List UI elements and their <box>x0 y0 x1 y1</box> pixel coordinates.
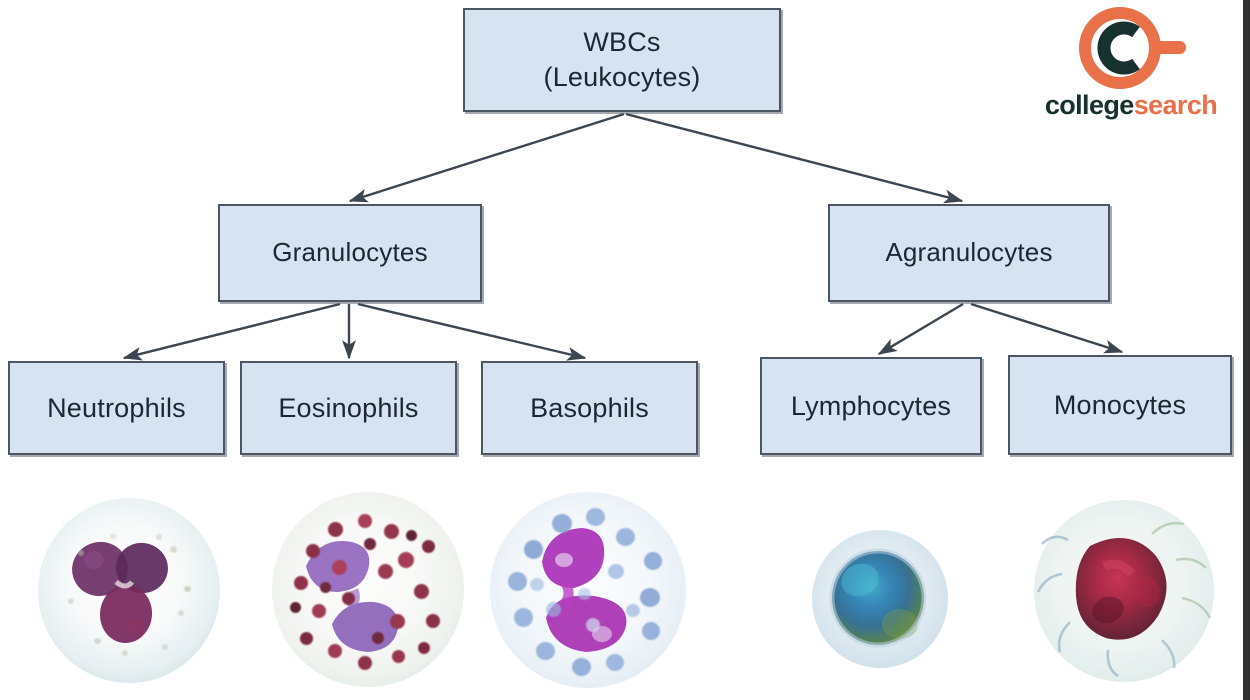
logo-word-college: college <box>1045 90 1134 120</box>
node-monocytes-label: Monocytes <box>1054 388 1186 423</box>
node-eosinophils[interactable]: Eosinophils <box>240 361 457 455</box>
node-wbcs[interactable]: WBCs (Leukocytes) <box>463 8 781 112</box>
eosinophil-micrograph <box>272 492 464 687</box>
lymphocyte-nucleus <box>812 530 948 668</box>
node-basophils[interactable]: Basophils <box>481 361 698 455</box>
lymphocyte-micrograph <box>812 530 948 668</box>
node-agranulocytes[interactable]: Agranulocytes <box>828 204 1110 302</box>
basophil-micrograph <box>490 492 686 688</box>
node-lymphocytes-label: Lymphocytes <box>791 389 951 424</box>
node-wbcs-label: WBCs (Leukocytes) <box>544 25 701 94</box>
edge-agranulocytes-lymphocytes <box>879 304 963 354</box>
node-neutrophils-label: Neutrophils <box>47 391 186 426</box>
logo-wordmark: collegesearch <box>1020 90 1242 121</box>
node-lymphocytes[interactable]: Lymphocytes <box>760 357 982 455</box>
diagram-canvas: WBCs (Leukocytes) Granulocytes Agranuloc… <box>0 0 1250 700</box>
canvas-right-edge <box>1243 0 1250 700</box>
neutrophil-nucleus <box>38 498 220 683</box>
edge-wbcs-agranulocytes <box>626 114 962 201</box>
node-monocytes[interactable]: Monocytes <box>1008 355 1232 455</box>
monocyte-micrograph <box>1034 500 1214 682</box>
edge-granulocytes-basophils <box>358 304 585 358</box>
edge-granulocytes-neutrophils <box>124 304 340 358</box>
neutrophil-micrograph <box>38 498 220 683</box>
node-neutrophils[interactable]: Neutrophils <box>8 361 225 455</box>
edge-wbcs-granulocytes <box>350 114 624 201</box>
node-agranulocytes-label: Agranulocytes <box>885 236 1052 269</box>
node-granulocytes-label: Granulocytes <box>272 236 428 269</box>
node-basophils-label: Basophils <box>530 391 649 426</box>
monocyte-cytoplasm-fringe <box>1034 500 1214 682</box>
magnifier-c-icon <box>1066 2 1192 94</box>
node-eosinophils-label: Eosinophils <box>278 391 418 426</box>
logo-word-search: search <box>1134 90 1217 120</box>
node-granulocytes[interactable]: Granulocytes <box>218 204 482 302</box>
collegesearch-logo[interactable]: collegesearch <box>1020 2 1242 132</box>
edge-agranulocytes-monocytes <box>971 304 1122 352</box>
